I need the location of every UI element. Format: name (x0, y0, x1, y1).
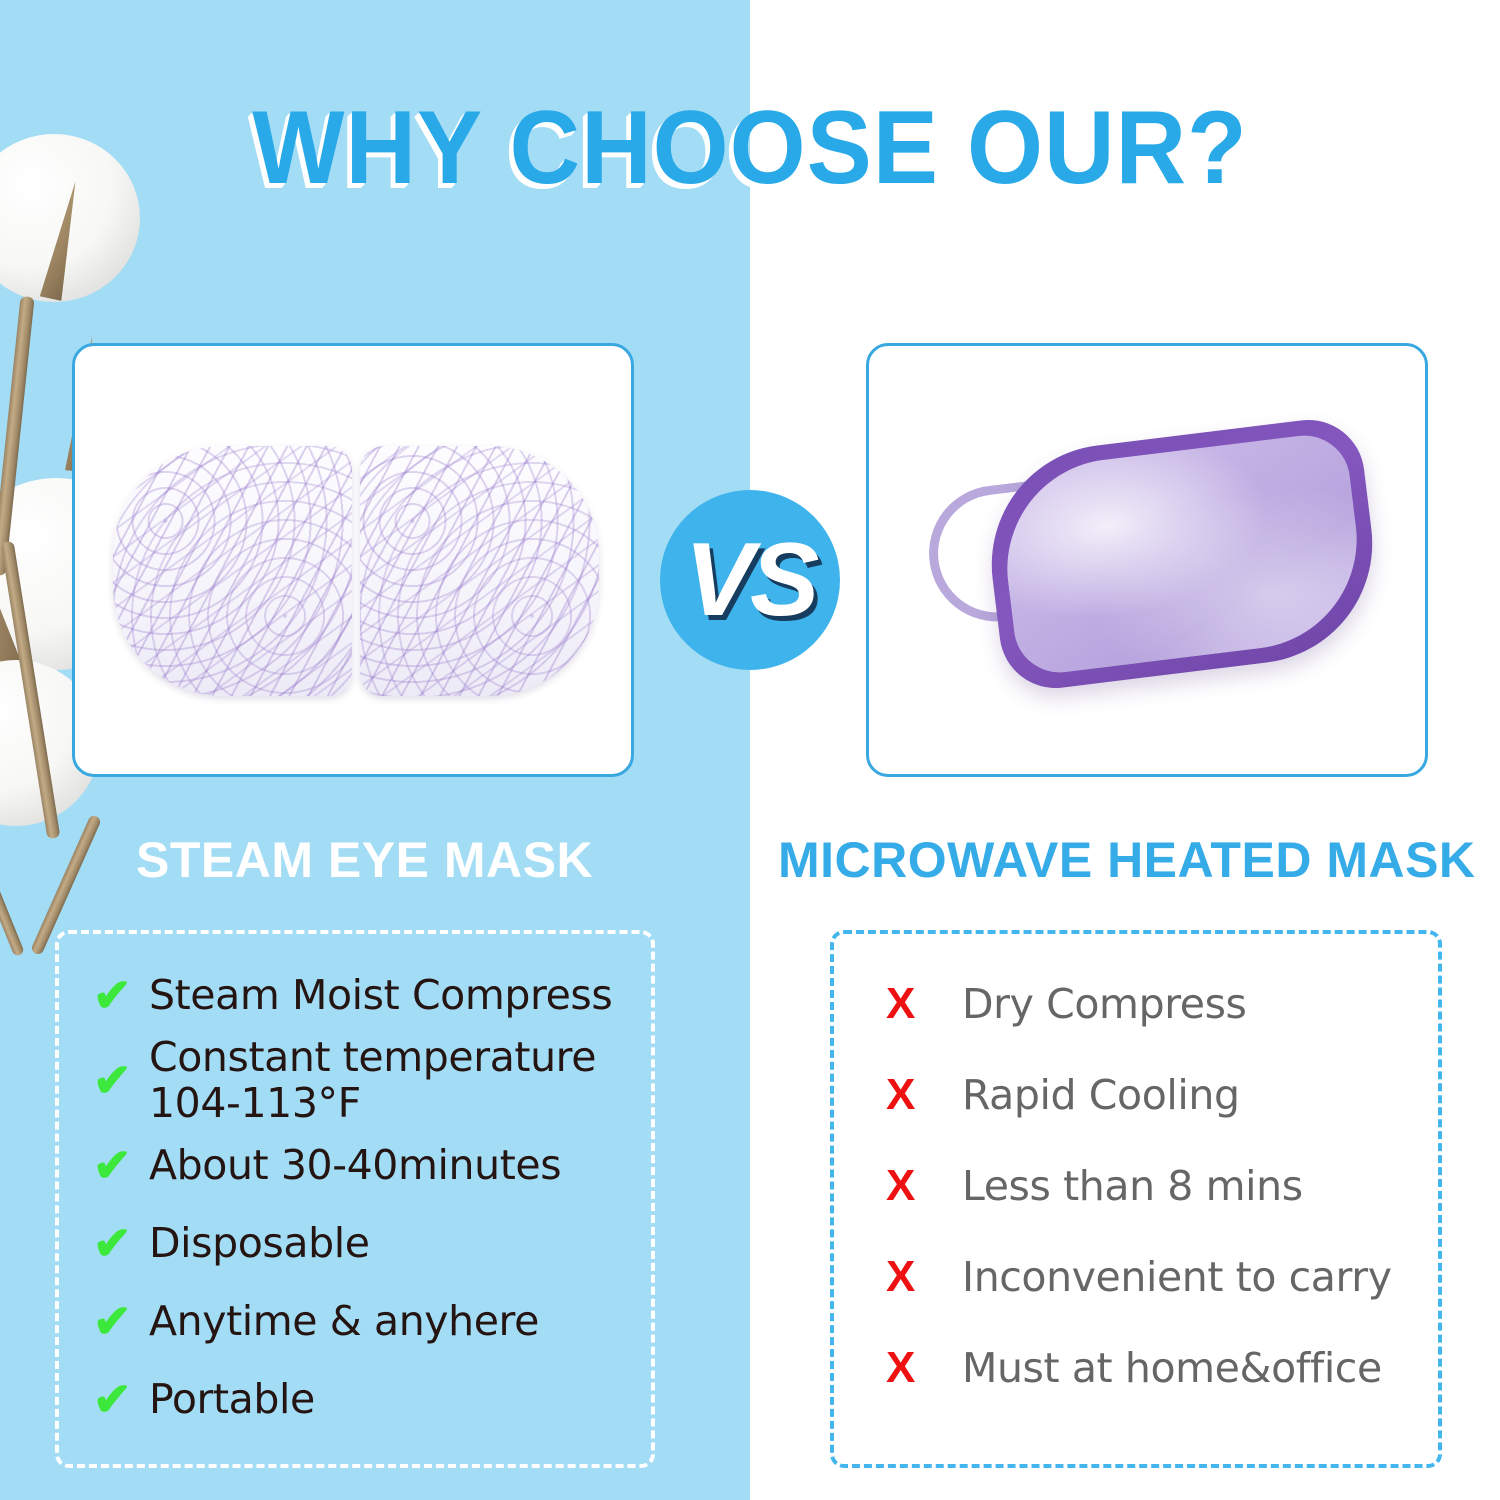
steam-mask-pad-left (113, 446, 352, 696)
check-icon: ✔ (93, 972, 149, 1018)
list-item: ✔ Portable (93, 1360, 651, 1438)
feature-label: Must at home&office (962, 1345, 1382, 1391)
feature-label: Inconvenient to carry (962, 1254, 1392, 1300)
feature-label: Rapid Cooling (962, 1072, 1240, 1118)
list-item: ✔ Disposable (93, 1204, 651, 1282)
infographic-page: WHY CHOOSE OUR? VS STEAM EYE MA (0, 0, 1500, 1500)
cross-icon: X (886, 1254, 962, 1300)
page-title: WHY CHOOSE OUR? (45, 96, 1455, 200)
feature-label: Less than 8 mins (962, 1163, 1303, 1209)
vs-label: VS (660, 490, 840, 670)
list-item: X Inconvenient to carry (886, 1231, 1438, 1322)
check-icon: ✔ (93, 1220, 149, 1266)
product-image-card-steam-mask (72, 343, 634, 777)
feature-label: Disposable (149, 1220, 370, 1266)
column-heading-steam-mask: STEAM EYE MASK (136, 832, 593, 888)
feature-list-steam-mask: ✔ Steam Moist Compress ✔ Constant temper… (59, 934, 651, 1438)
feature-list-microwave-mask: X Dry Compress X Rapid Cooling X Less th… (834, 934, 1438, 1413)
mask-body-trim (978, 414, 1386, 695)
steam-eye-mask-image (113, 446, 599, 696)
vs-badge: VS (660, 490, 840, 670)
feature-label: Constant temperature 104-113°F (149, 1034, 596, 1126)
cross-icon: X (886, 981, 962, 1027)
list-item: X Less than 8 mins (886, 1140, 1438, 1231)
list-item: ✔ Constant temperature 104-113°F (93, 1034, 651, 1126)
list-item: X Rapid Cooling (886, 1049, 1438, 1140)
feature-box-microwave-mask: X Dry Compress X Rapid Cooling X Less th… (830, 930, 1442, 1468)
steam-mask-pad-right (360, 446, 599, 696)
feature-label: Dry Compress (962, 981, 1247, 1027)
mask-satin-surface (995, 430, 1369, 677)
feature-label: Steam Moist Compress (149, 972, 612, 1018)
product-image-card-microwave-mask (866, 343, 1428, 777)
microwave-heated-mask-image (927, 418, 1379, 708)
feature-label: Anytime & anyhere (149, 1298, 539, 1344)
feature-box-steam-mask: ✔ Steam Moist Compress ✔ Constant temper… (55, 930, 655, 1468)
check-icon: ✔ (93, 1298, 149, 1344)
check-icon: ✔ (93, 1142, 149, 1188)
list-item: X Dry Compress (886, 958, 1438, 1049)
check-icon: ✔ (93, 1057, 149, 1103)
cross-icon: X (886, 1072, 962, 1118)
feature-label: Portable (149, 1376, 315, 1422)
list-item: X Must at home&office (886, 1322, 1438, 1413)
column-heading-microwave-mask: MICROWAVE HEATED MASK (778, 832, 1476, 888)
check-icon: ✔ (93, 1376, 149, 1422)
list-item: ✔ Anytime & anyhere (93, 1282, 651, 1360)
cross-icon: X (886, 1163, 962, 1209)
list-item: ✔ Steam Moist Compress (93, 956, 651, 1034)
feature-label: About 30-40minutes (149, 1142, 561, 1188)
cross-icon: X (886, 1345, 962, 1391)
list-item: ✔ About 30-40minutes (93, 1126, 651, 1204)
